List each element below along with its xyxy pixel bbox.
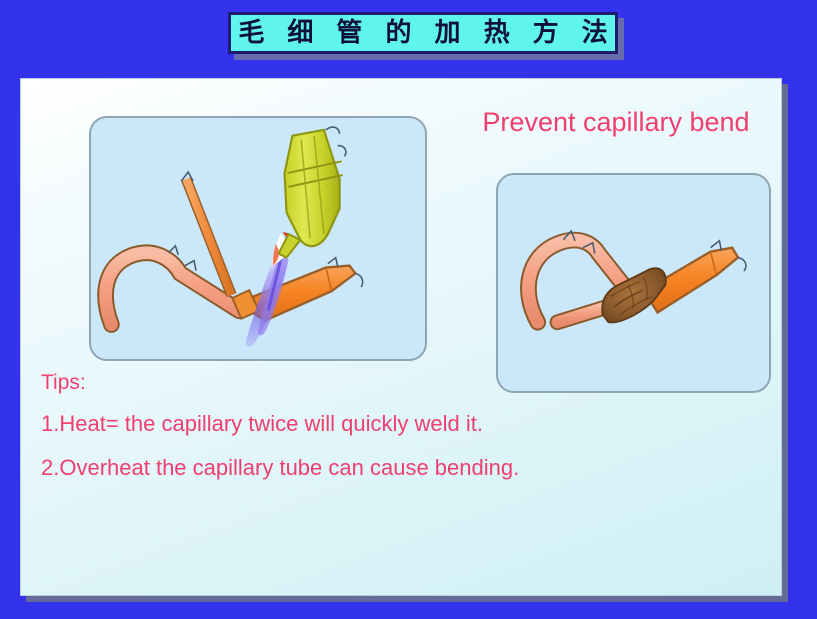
torch-tip-mark-2 [338, 146, 346, 157]
tips-item-2: 2.Overheat the capillary tube can cause … [41, 455, 741, 481]
tube-tip-mark-2 [738, 257, 746, 271]
tips-item-1: 1.Heat= the capillary twice will quickly… [41, 411, 741, 437]
figure-heating-capillary [89, 116, 427, 361]
tips-block: Tips: 1.Heat= the capillary twice will q… [41, 371, 741, 499]
slide-title-plate: 毛 细 管 的 加 热 方 法 [228, 12, 618, 54]
tube-tip-mark-2 [355, 273, 362, 287]
tips-heading: Tips: [41, 371, 741, 395]
slide-title-text: 毛 细 管 的 加 热 方 法 [231, 20, 614, 46]
slide-root: 毛 细 管 的 加 热 方 法 Prevent capillary bend [0, 0, 817, 619]
tube-tip-mark [328, 258, 338, 267]
figure-welded-joint [496, 173, 771, 393]
torch-tip-mark [326, 127, 340, 134]
heating-capillary-illustration [91, 118, 425, 359]
content-panel: Prevent capillary bend [20, 78, 782, 596]
welded-joint-illustration [498, 175, 769, 391]
headline-text: Prevent capillary bend [451, 107, 781, 138]
torch-nozzle [279, 127, 346, 258]
